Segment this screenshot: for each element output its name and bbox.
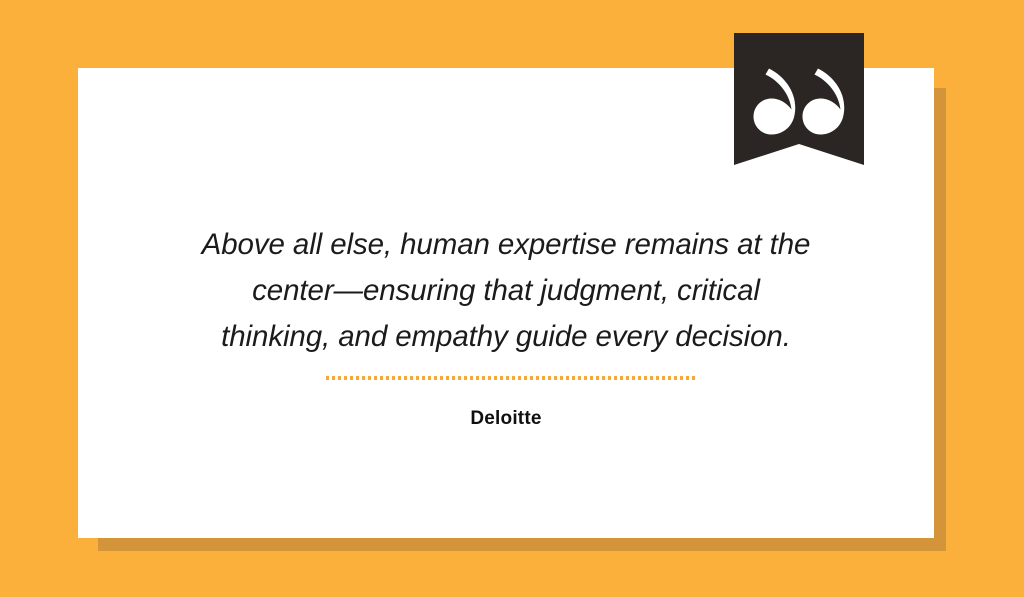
quote-attribution: Deloitte	[78, 408, 934, 430]
quote-line-1: Above all else, human expertise remains …	[78, 222, 934, 268]
quote-line-2: center—ensuring that judgment, critical	[78, 268, 934, 314]
bookmark-ribbon-icon	[734, 33, 864, 165]
quote-text: Above all else, human expertise remains …	[78, 222, 934, 360]
quote-badge	[734, 33, 864, 165]
dotted-divider	[326, 376, 696, 380]
quote-card-slide: Above all else, human expertise remains …	[0, 0, 1024, 597]
quote-line-3: thinking, and empathy guide every decisi…	[78, 314, 934, 360]
bookmark-shape	[734, 33, 864, 165]
